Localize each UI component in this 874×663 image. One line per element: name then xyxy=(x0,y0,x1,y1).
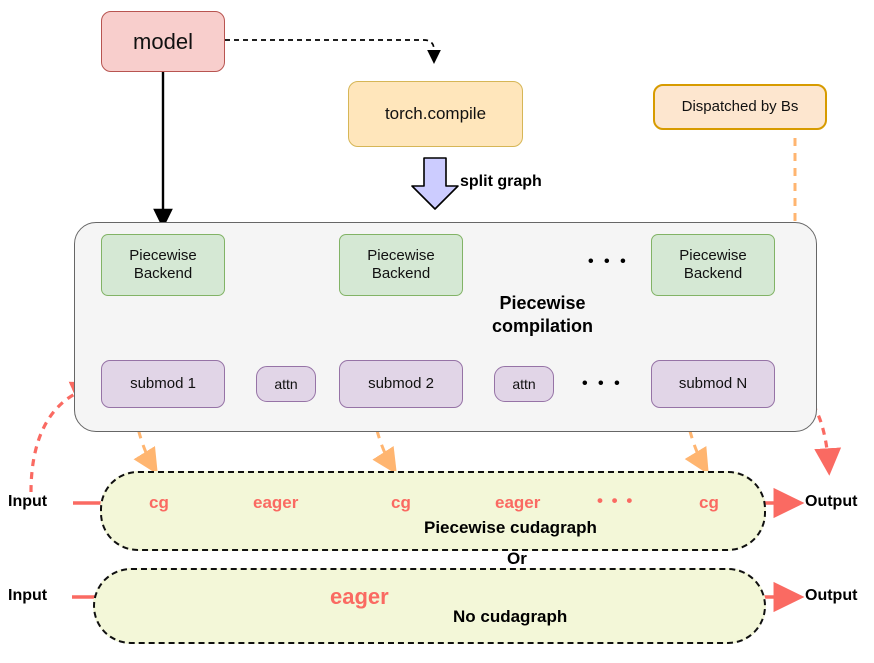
submod-1-label: submod 1 xyxy=(130,375,196,393)
pw-step-eager-1: eager xyxy=(253,493,298,513)
piecewise-backend-n-line1: Piecewise xyxy=(679,247,747,265)
model-label: model xyxy=(133,29,193,55)
pw-step-cg-1: cg xyxy=(149,493,169,513)
torch-compile-box[interactable]: torch.compile xyxy=(348,81,523,147)
piecewise-compilation-title-line2: compilation xyxy=(492,315,593,338)
no-cudagraph-input-label: Input xyxy=(8,587,47,605)
backend-ellipsis: • • • xyxy=(588,253,629,271)
piecewise-backend-n-line2: Backend xyxy=(684,265,742,283)
no-cudagraph-output-label: Output xyxy=(805,587,857,605)
piecewise-backend-1[interactable]: Piecewise Backend xyxy=(101,234,225,296)
piecewise-backend-1-line2: Backend xyxy=(134,265,192,283)
pw-step-eager-2: eager xyxy=(495,493,540,513)
no-cudagraph-band-label: No cudagraph xyxy=(453,607,567,627)
attn-2-label: attn xyxy=(512,376,535,393)
piecewise-input-label: Input xyxy=(8,493,47,511)
split-graph-label: split graph xyxy=(460,173,542,191)
submod-ellipsis: • • • xyxy=(582,375,623,393)
piecewise-backend-2[interactable]: Piecewise Backend xyxy=(339,234,463,296)
or-label: Or xyxy=(507,549,527,569)
model-box[interactable]: model xyxy=(101,11,225,72)
submod-2-label: submod 2 xyxy=(368,375,434,393)
split-graph-arrow xyxy=(412,158,458,209)
no-cudagraph-band xyxy=(93,568,766,644)
dispatched-by-bs-box[interactable]: Dispatched by Bs xyxy=(653,84,827,130)
pw-step-cg-2: cg xyxy=(391,493,411,513)
piecewise-backend-n[interactable]: Piecewise Backend xyxy=(651,234,775,296)
submod-n[interactable]: submod N xyxy=(651,360,775,408)
attn-1[interactable]: attn xyxy=(256,366,316,402)
piecewise-output-label: Output xyxy=(805,493,857,511)
attn-2[interactable]: attn xyxy=(494,366,554,402)
submod-2[interactable]: submod 2 xyxy=(339,360,463,408)
diagram-canvas: model torch.compile Dispatched by Bs spl… xyxy=(0,0,874,663)
piecewise-backend-2-line2: Backend xyxy=(372,265,430,283)
attn-1-label: attn xyxy=(274,376,297,393)
piecewise-compilation-title-line1: Piecewise xyxy=(492,292,593,315)
nc-step-eager: eager xyxy=(330,584,389,610)
piecewise-backend-1-line1: Piecewise xyxy=(129,247,197,265)
wire-model-to-torchcompile xyxy=(225,40,434,62)
pw-step-ellipsis: • • • xyxy=(597,491,634,511)
piecewise-compilation-title: Piecewise compilation xyxy=(492,292,593,337)
torch-compile-label: torch.compile xyxy=(385,104,486,124)
piecewise-backend-2-line1: Piecewise xyxy=(367,247,435,265)
piecewise-cudagraph-band-label: Piecewise cudagraph xyxy=(424,518,597,538)
submod-n-label: submod N xyxy=(679,375,747,393)
piecewise-cudagraph-band xyxy=(100,471,766,551)
submod-1[interactable]: submod 1 xyxy=(101,360,225,408)
dispatched-by-bs-label: Dispatched by Bs xyxy=(682,98,799,116)
pw-step-cg-n: cg xyxy=(699,493,719,513)
